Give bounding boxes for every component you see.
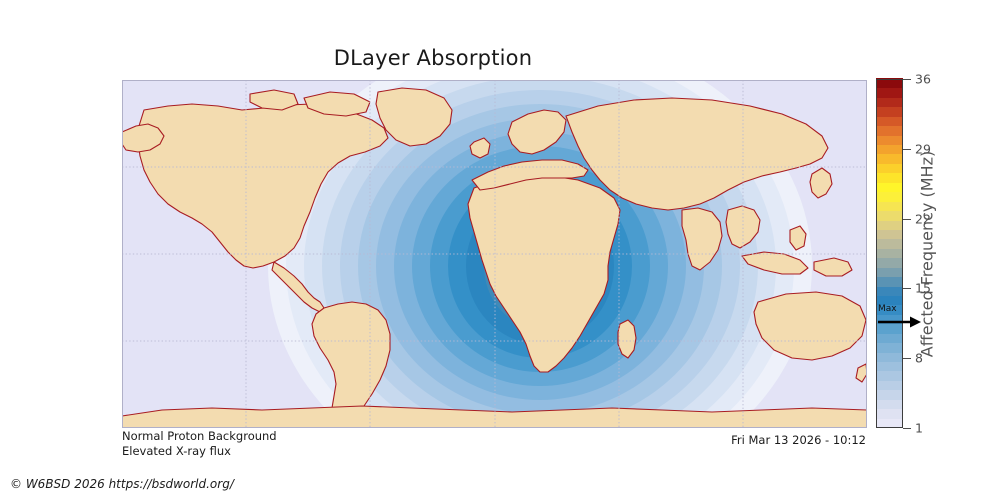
colorbar-band — [876, 116, 903, 126]
map-plot-area[interactable] — [122, 80, 867, 428]
colorbar-band — [876, 390, 903, 400]
colorbar-band — [876, 409, 903, 419]
colorbar-band — [876, 78, 903, 88]
colorbar-band — [876, 229, 903, 239]
dlayer-absorption-figure: DLayer Absorption — [0, 0, 1000, 500]
colorbar-tick — [903, 79, 911, 80]
colorbar-band — [876, 210, 903, 220]
footer-credit: © W6BSD 2026 https://bsdworld.org/ — [10, 477, 234, 491]
colorbar-band — [876, 201, 903, 211]
colorbar-band — [876, 343, 903, 353]
page-title: DLayer Absorption — [0, 46, 866, 70]
colorbar-band — [876, 371, 903, 381]
status-annotations: Normal Proton Background Elevated X-ray … — [122, 429, 277, 459]
colorbar-band — [876, 248, 903, 258]
colorbar-band — [876, 135, 903, 145]
colorbar-band — [876, 295, 903, 305]
colorbar-axis-label: Affected Frequency (MHz) — [912, 79, 942, 428]
colorbar-label-text: Affected Frequency (MHz) — [918, 150, 937, 356]
colorbar-band — [876, 144, 903, 154]
colorbar-band — [876, 173, 903, 183]
colorbar-band — [876, 97, 903, 107]
colorbar-band — [876, 192, 903, 202]
colorbar-band — [876, 154, 903, 164]
colorbar-tick — [903, 428, 911, 429]
colorbar-band — [876, 314, 903, 324]
colorbar-band — [876, 361, 903, 371]
colorbar-tick — [903, 358, 911, 359]
colorbar-band — [876, 305, 903, 315]
colorbar-band — [876, 88, 903, 98]
colorbar-band — [876, 182, 903, 192]
colorbar-band — [876, 220, 903, 230]
colorbar-band — [876, 418, 903, 428]
colorbar-band — [876, 107, 903, 117]
colorbar-band — [876, 380, 903, 390]
colorbar-band — [876, 267, 903, 277]
colorbar-tick — [903, 219, 911, 220]
colorbar-gradient — [876, 79, 903, 428]
colorbar-band — [876, 126, 903, 136]
colorbar-band — [876, 324, 903, 334]
colorbar-band — [876, 286, 903, 296]
colorbar-band — [876, 352, 903, 362]
colorbar[interactable]: 1815222936 — [876, 79, 903, 428]
colorbar-tick — [903, 288, 911, 289]
colorbar-tick — [903, 149, 911, 150]
xray-status-text: Elevated X-ray flux — [122, 444, 277, 459]
colorbar-band — [876, 239, 903, 249]
colorbar-band — [876, 163, 903, 173]
colorbar-band — [876, 333, 903, 343]
colorbar-band — [876, 399, 903, 409]
timestamp-label: Fri Mar 13 2026 - 10:12 — [560, 433, 866, 447]
world-map — [122, 80, 867, 428]
colorbar-band — [876, 258, 903, 268]
colorbar-band — [876, 276, 903, 286]
proton-status-text: Normal Proton Background — [122, 429, 277, 444]
